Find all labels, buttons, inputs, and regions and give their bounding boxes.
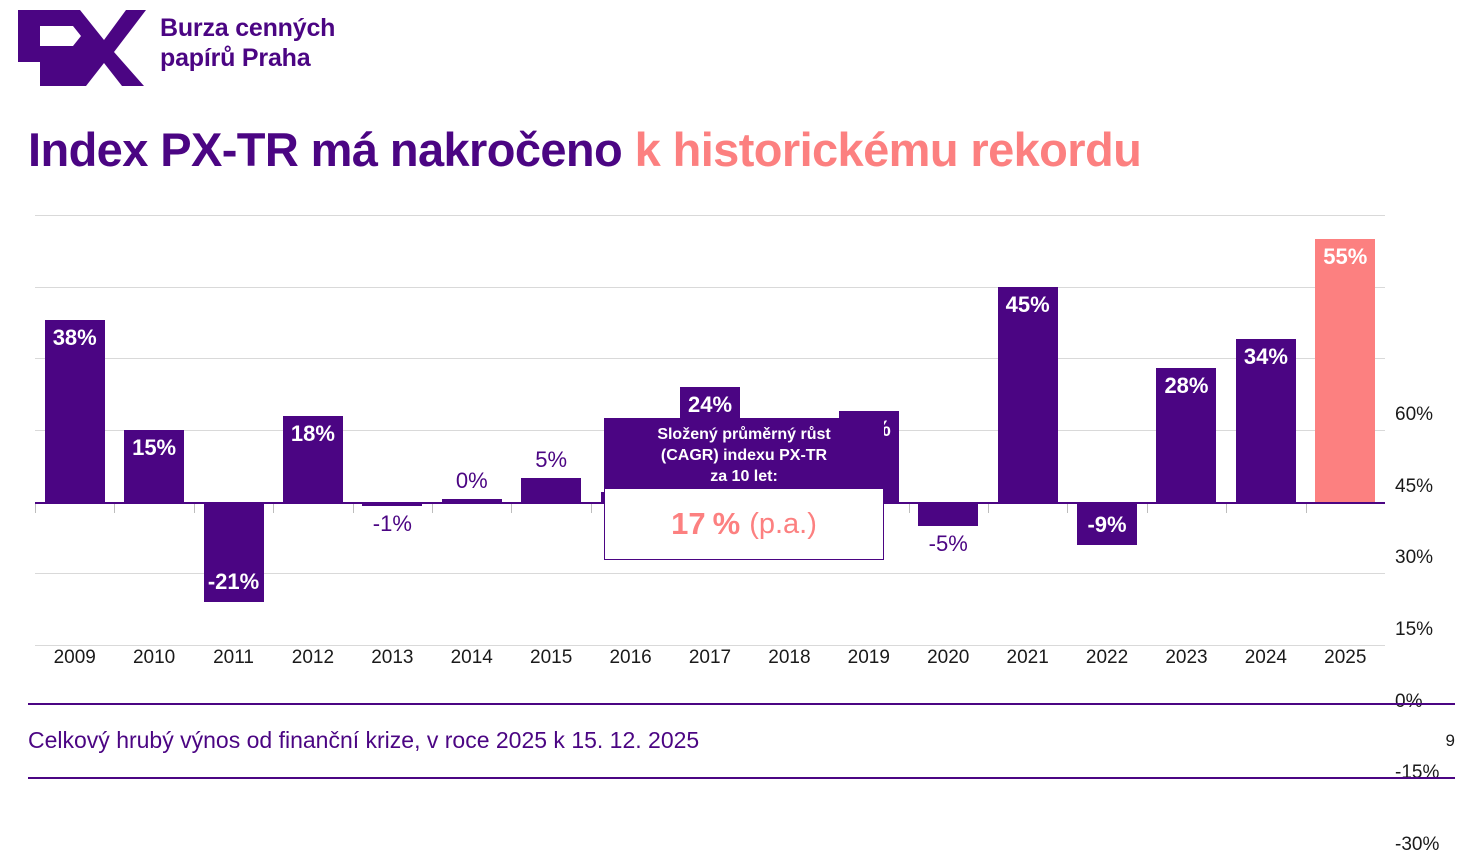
gridline-30 [35,358,1385,359]
x-axis-tickmark [194,504,195,513]
cagr-header-line2: (CAGR) indexu PX-TR [604,446,884,467]
cagr-callout-header: Složený průměrný růst (CAGR) indexu PX-T… [604,418,884,489]
gridline-neg30 [35,645,1385,646]
y-axis-tick-label: -15% [1395,762,1439,784]
y-axis-tick-label: -30% [1395,834,1439,856]
page-number: 9 [1424,731,1455,751]
x-axis-tickmark [273,504,274,513]
bar-2013[interactable] [362,502,422,507]
bar-value-label-2021: 45% [986,292,1070,318]
cagr-header-line1: Složený průměrný růst [604,425,884,446]
bar-value-label-2023: 28% [1144,373,1228,399]
footer-rule-top [28,703,1455,705]
x-axis-tick-label-2014: 2014 [430,647,514,669]
cagr-value: 17 [671,506,705,542]
bar-value-label-2010: 15% [112,435,196,461]
bar-value-label-2020: -5% [906,531,990,557]
bar-value-label-2025: 55% [1303,244,1387,270]
cagr-suffix: (p.a.) [749,508,817,541]
footer-rule-bottom [28,777,1455,779]
page-title: Index PX-TR má nakročeno k historickému … [28,122,1141,177]
x-axis-tick-label-2023: 2023 [1144,647,1228,669]
y-axis-tick-label: 30% [1395,547,1433,569]
gridline-60 [35,215,1385,216]
x-axis-tick-label-2016: 2016 [589,647,673,669]
bar-value-label-2024: 34% [1224,344,1308,370]
bar-2014[interactable] [442,499,502,502]
bar-2015[interactable] [521,478,581,502]
cagr-callout: Složený průměrný růst (CAGR) indexu PX-T… [604,418,884,560]
page-header: Burza cenných papírů Praha [0,0,1483,110]
bar-chart: 38%15%-21%18%-1%0%5%2%24%-4%19%-5%45%-9%… [0,200,1483,690]
cagr-callout-body: 17 % (p.a.) [604,489,884,560]
bar-value-label-2009: 38% [33,325,117,351]
bar-value-label-2014: 0% [430,468,514,494]
bar-value-label-2011: -21% [192,569,276,595]
page-title-main: Index PX-TR má nakročeno [28,123,635,176]
x-axis-tick-label-2009: 2009 [33,647,117,669]
cagr-unit: % [713,506,741,542]
x-axis-tick-label-2024: 2024 [1224,647,1308,669]
x-axis-tick-label-2011: 2011 [192,647,276,669]
logo-wordmark-line1: Burza cenných [160,14,335,44]
bar-value-label-2012: 18% [271,421,355,447]
x-axis-tick-label-2017: 2017 [668,647,752,669]
x-axis-tick-label-2022: 2022 [1065,647,1149,669]
x-axis-tickmark [114,504,115,513]
y-axis-tick-label: 15% [1395,619,1433,641]
x-axis-tickmark [1306,504,1307,513]
x-axis-tick-label-2013: 2013 [350,647,434,669]
logo-wordmark: Burza cenných papírů Praha [160,14,335,73]
bar-value-label-2015: 5% [509,447,593,473]
y-axis-tick-label: 0% [1395,691,1422,713]
x-axis-tick-label-2019: 2019 [827,647,911,669]
y-axis-tick-label: 60% [1395,404,1433,426]
x-axis-tick-label-2010: 2010 [112,647,196,669]
x-axis-tickmark [35,504,36,513]
x-axis-tick-label-2012: 2012 [271,647,355,669]
x-axis-tick-label-2018: 2018 [747,647,831,669]
x-axis-tickmark [432,504,433,513]
x-axis-tick-label-2020: 2020 [906,647,990,669]
x-axis-tickmark [909,504,910,513]
x-axis-tick-label-2025: 2025 [1303,647,1387,669]
x-axis-tickmark [1226,504,1227,513]
px-logo-icon [18,10,146,86]
y-axis-tick-label: 45% [1395,476,1433,498]
x-axis-tickmark [511,504,512,513]
bar-value-label-2022: -9% [1065,512,1149,538]
x-axis-tickmark [988,504,989,513]
bar-2021[interactable] [998,287,1058,502]
bar-2025[interactable] [1315,239,1375,502]
gridline-45 [35,287,1385,288]
logo-wordmark-line2: papírů Praha [160,44,335,74]
x-axis-tick-label-2015: 2015 [509,647,593,669]
bar-value-label-2013: -1% [350,511,434,537]
page-title-accent: k historickému rekordu [635,123,1142,176]
footer-note: Celkový hrubý výnos od finanční krize, v… [28,727,699,754]
cagr-header-line3: za 10 let: [604,467,884,488]
bar-value-label-2017: 24% [668,392,752,418]
x-axis-tickmark [1147,504,1148,513]
bar-2020[interactable] [918,502,978,526]
x-axis-tickmark [591,504,592,513]
x-axis-tick-label-2021: 2021 [986,647,1070,669]
